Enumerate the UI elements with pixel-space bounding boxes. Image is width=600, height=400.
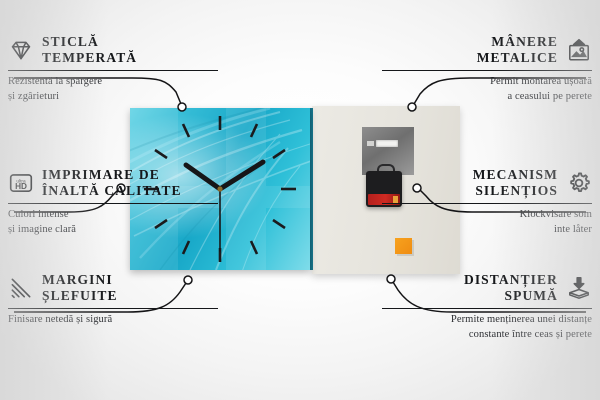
feature-distantier-spuma: DISTANȚIER SPUMĂ Permite menținerea unei… xyxy=(382,272,592,342)
feature-head: ultra HD IMPRIMARE DE ÎNALTĂ CALITATE xyxy=(8,167,218,199)
feature-subtitle: Culori intense și imagine clară xyxy=(8,208,218,236)
feature-title: STICLĂ TEMPERATĂ xyxy=(42,34,137,66)
polished-edges-icon xyxy=(8,275,34,301)
ultra-hd-icon: ultra HD xyxy=(8,170,34,196)
feature-subtitle: Finisare netedă și sigură xyxy=(8,313,218,327)
feature-divider xyxy=(382,308,592,310)
diamond-icon xyxy=(8,37,34,63)
feature-sticla-temperata: STICLĂ TEMPERATĂ Rezistentă la spargere … xyxy=(8,34,218,104)
feature-head: MÂNERE METALICE xyxy=(382,34,592,66)
feature-divider xyxy=(382,70,592,72)
svg-text:HD: HD xyxy=(15,182,27,191)
feature-mecanism-silentios: MECANISM SILENȚIOS Klockvisare som inte … xyxy=(382,167,592,237)
feature-head: MECANISM SILENȚIOS xyxy=(382,167,592,199)
hanger-slot xyxy=(376,140,398,147)
feature-title: MECANISM SILENȚIOS xyxy=(473,167,558,199)
feature-subtitle: Rezistentă la spargere și zgârieturi xyxy=(8,75,218,103)
gear-icon xyxy=(566,170,592,196)
feature-title: IMPRIMARE DE ÎNALTĂ CALITATE xyxy=(42,167,182,199)
feature-head: STICLĂ TEMPERATĂ xyxy=(8,34,218,66)
hanging-frame-icon xyxy=(566,37,592,63)
feature-margini-slefuite: MARGINI ȘLEFUITE Finisare netedă și sigu… xyxy=(8,272,218,328)
infographic-canvas: STICLĂ TEMPERATĂ Rezistentă la spargere … xyxy=(0,0,600,400)
press-down-pad-icon xyxy=(566,275,592,301)
feature-divider xyxy=(8,203,218,205)
feature-head: DISTANȚIER SPUMĂ xyxy=(382,272,592,304)
feature-head: MARGINI ȘLEFUITE xyxy=(8,272,218,304)
feature-divider xyxy=(8,70,218,72)
foam-spacer xyxy=(395,238,412,254)
feature-subtitle: Klockvisare som inte låter xyxy=(382,208,592,236)
feature-subtitle: Permite menținerea unei distanțe constan… xyxy=(382,313,592,341)
feature-imprimare-inalta-calitate: ultra HD IMPRIMARE DE ÎNALTĂ CALITATE Cu… xyxy=(8,167,218,237)
feature-divider xyxy=(382,203,592,205)
feature-subtitle: Permit montarea ușoară a ceasului pe per… xyxy=(382,75,592,103)
feature-divider xyxy=(8,308,218,310)
feature-title: MARGINI ȘLEFUITE xyxy=(42,272,118,304)
feature-title: MÂNERE METALICE xyxy=(477,34,558,66)
feature-manere-metalice: MÂNERE METALICE Permit montarea ușoară a… xyxy=(382,34,592,104)
feature-title: DISTANȚIER SPUMĂ xyxy=(464,272,558,304)
